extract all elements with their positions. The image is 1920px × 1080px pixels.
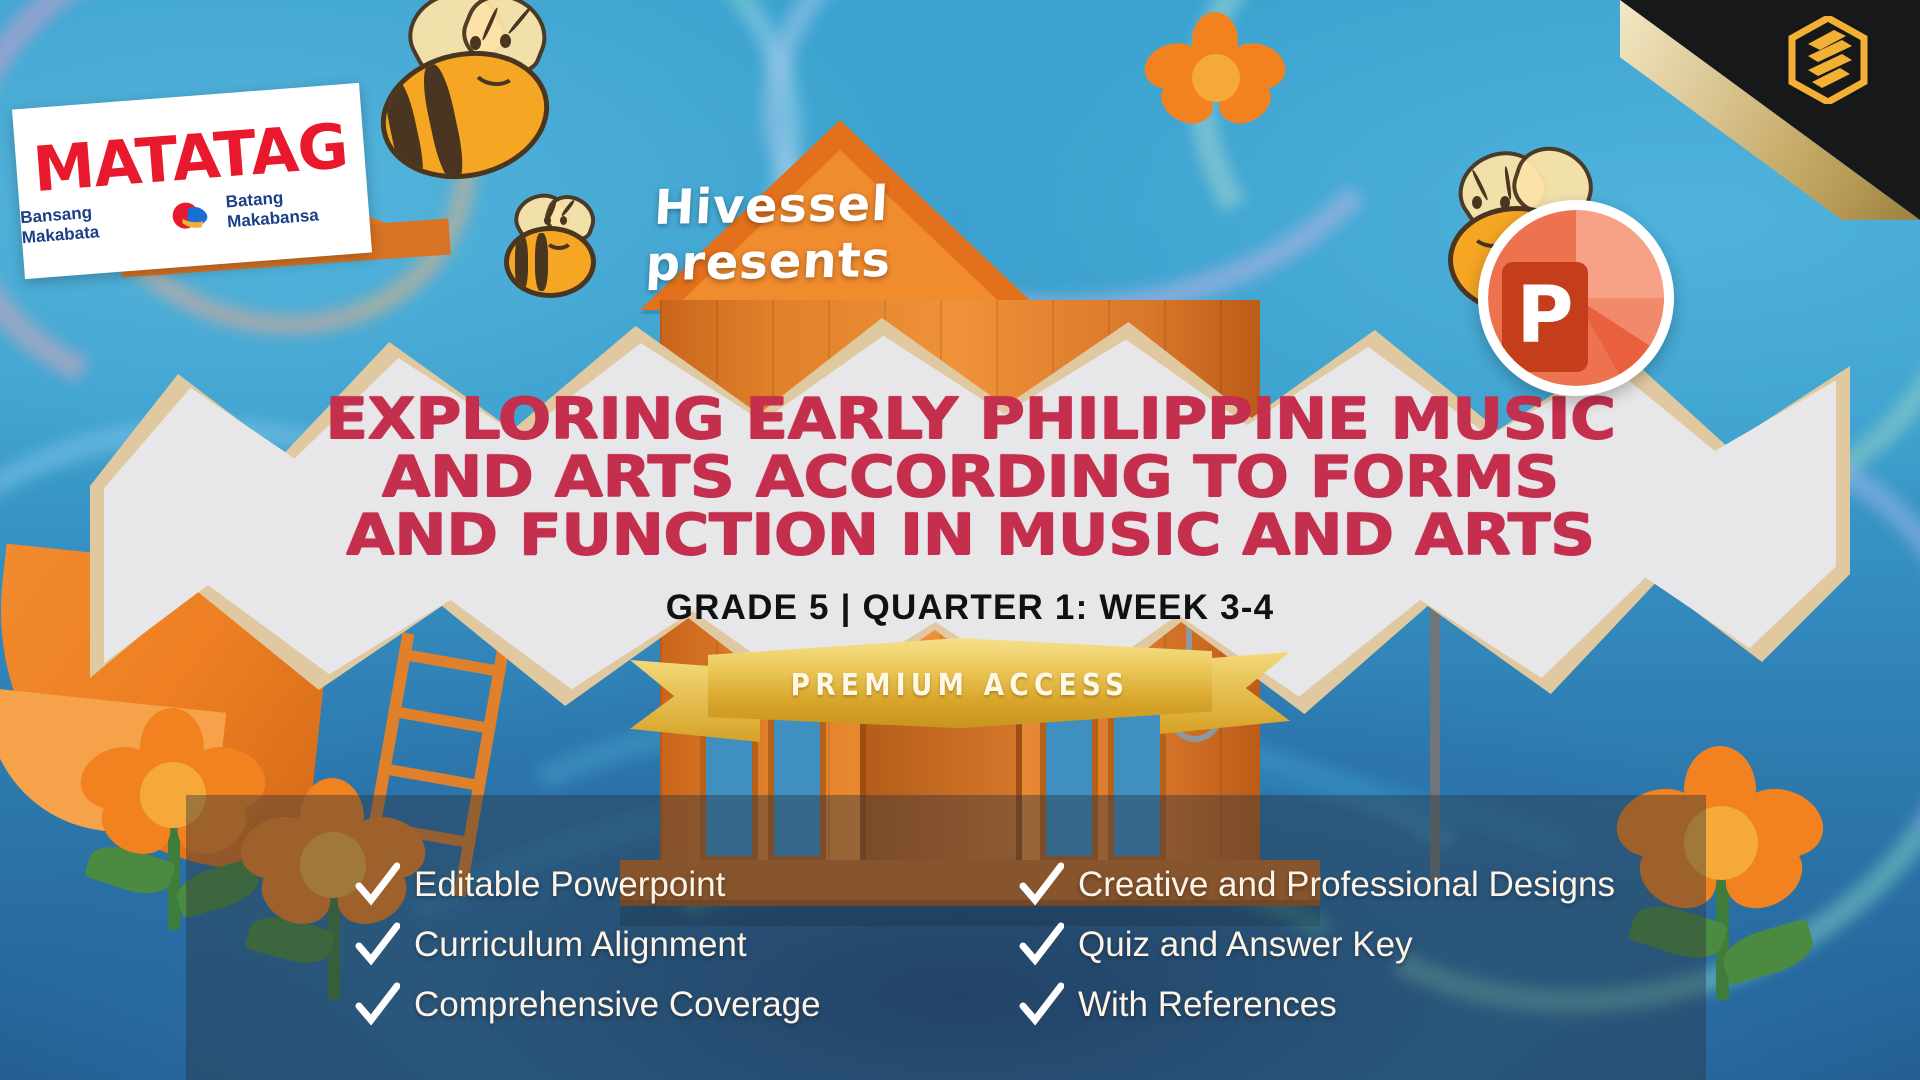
title-line-1: EXPLORING EARLY PHILIPPINE MUSIC <box>2 390 1920 448</box>
check-icon <box>354 982 400 1028</box>
feature-label: Comprehensive Coverage <box>414 985 821 1025</box>
list-item: Creative and Professional Designs <box>1018 862 1706 908</box>
ribbon-label: PREMIUM ACCESS <box>738 638 1182 732</box>
hexagon-brand-logo-icon <box>1788 16 1868 104</box>
feature-column-left: Editable Powerpoint Curriculum Alignment… <box>186 862 946 1028</box>
matatag-emblem-icon <box>168 198 222 232</box>
check-icon <box>354 862 400 908</box>
svg-text:P: P <box>1516 271 1573 361</box>
presenter-text: Hivessel presents <box>540 178 1000 290</box>
title-line-2: AND ARTS ACCORDING TO FORMS <box>2 448 1920 506</box>
list-item: Quiz and Answer Key <box>1018 922 1706 968</box>
list-item: Curriculum Alignment <box>354 922 946 968</box>
powerpoint-icon: P <box>1488 210 1664 386</box>
list-item: With References <box>1018 982 1706 1028</box>
check-icon <box>354 922 400 968</box>
check-icon <box>1018 922 1064 968</box>
corner-fold <box>1620 0 1920 220</box>
check-icon <box>1018 982 1064 1028</box>
title-block: EXPLORING EARLY PHILIPPINE MUSIC AND ART… <box>90 390 1850 628</box>
feature-label: Curriculum Alignment <box>414 925 747 965</box>
title-line-3: AND FUNCTION IN MUSIC AND ARTS <box>2 506 1920 564</box>
premium-access-ribbon: PREMIUM ACCESS <box>630 638 1290 748</box>
feature-label: Editable Powerpoint <box>414 865 725 905</box>
feature-list: Editable Powerpoint Curriculum Alignment… <box>186 795 1706 1080</box>
powerpoint-badge: P <box>1478 200 1674 396</box>
list-item: Comprehensive Coverage <box>354 982 946 1028</box>
feature-column-right: Creative and Professional Designs Quiz a… <box>946 862 1706 1028</box>
feature-label: With References <box>1078 985 1337 1025</box>
slide-canvas: Hivessel presents MATATAG Bansang Makaba… <box>0 0 1920 1080</box>
feature-label: Quiz and Answer Key <box>1078 925 1413 965</box>
flower-decoration <box>1140 10 1290 160</box>
check-icon <box>1018 862 1064 908</box>
feature-label: Creative and Professional Designs <box>1078 865 1615 905</box>
matatag-logo: MATATAG Bansang Makabata Batang Makabans… <box>12 83 372 279</box>
bee-illustration <box>372 0 552 200</box>
subtitle: GRADE 5 | QUARTER 1: WEEK 3-4 <box>90 588 1850 628</box>
list-item: Editable Powerpoint <box>354 862 946 908</box>
